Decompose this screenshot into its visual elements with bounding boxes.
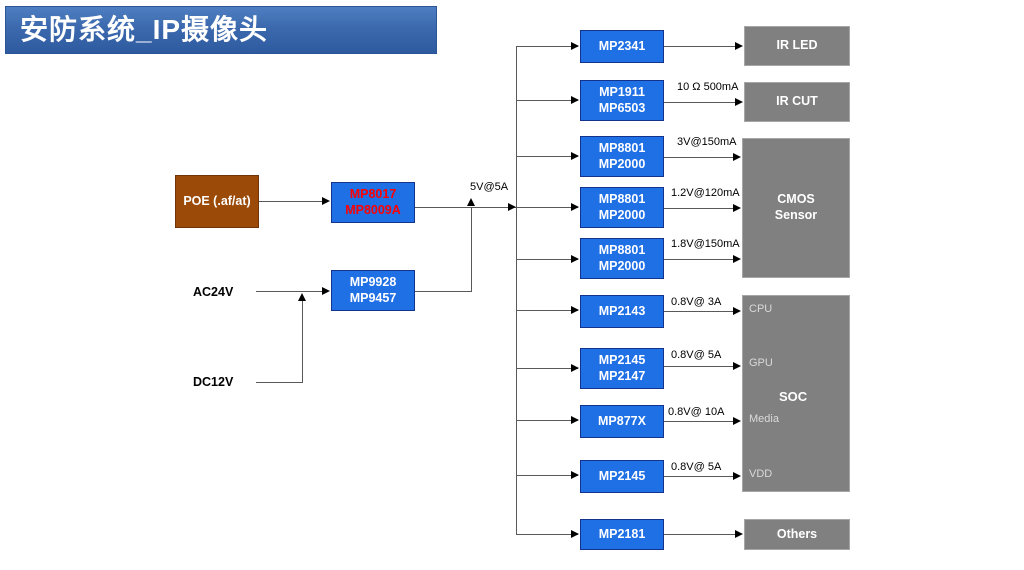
regulator-cmos-1v2-part1: MP8801 bbox=[599, 192, 646, 208]
arrow-bus-to-ir-cut-reg bbox=[571, 96, 579, 104]
page-title: 安防系统_IP摄像头 bbox=[6, 16, 268, 44]
wire-cmos-1v8-reg-to-load bbox=[664, 259, 736, 260]
arrow-soc-media-reg-to-load bbox=[733, 417, 741, 425]
wire-poe-to-converter bbox=[259, 201, 323, 202]
regulator-ir-led-part: MP2341 bbox=[599, 39, 646, 55]
arrow-bus-to-others-reg bbox=[571, 530, 579, 538]
wire-bus-to-cmos-1v8-reg bbox=[516, 259, 578, 260]
arrow-bus-to-soc-gpu-reg bbox=[571, 364, 579, 372]
regulator-ac-dc-converter-line1: MP9928 bbox=[350, 275, 397, 291]
load-ir-cut[interactable]: IR CUT bbox=[744, 82, 850, 122]
rail-label-soc-media: 0.8V@ 10A bbox=[668, 406, 724, 418]
soc-pin-cpu: CPU bbox=[749, 303, 772, 315]
arrow-bus-to-soc-vdd-reg bbox=[571, 471, 579, 479]
arrow-ac24v-to-converter bbox=[322, 287, 330, 295]
wire-bus-to-cmos-1v2-reg bbox=[516, 207, 578, 208]
load-cmos-sensor[interactable]: CMOS Sensor bbox=[742, 138, 850, 278]
regulator-poe-converter[interactable]: MP8017 MP8009A bbox=[331, 182, 415, 223]
arrow-soc-cpu-reg-to-load bbox=[733, 307, 741, 315]
wire-soc-vdd-reg-to-load bbox=[664, 476, 736, 477]
wire-bus-to-others-reg bbox=[516, 534, 578, 535]
wire-bus-to-soc-vdd-reg bbox=[516, 475, 578, 476]
wire-cmos-3v-reg-to-load bbox=[664, 157, 736, 158]
regulator-ir-cut-part2: MP6503 bbox=[599, 101, 646, 117]
bus-voltage-label: 5V@5A bbox=[470, 181, 508, 193]
regulator-soc-vdd[interactable]: MP2145 bbox=[580, 460, 664, 493]
regulator-ir-cut-part1: MP1911 bbox=[599, 85, 645, 101]
wire-acdc-out-vertical bbox=[471, 208, 472, 291]
arrow-bus-to-ir-led-reg bbox=[571, 42, 579, 50]
load-ir-led-label: IR LED bbox=[777, 38, 818, 54]
rail-label-cmos-1v8: 1.8V@150mA bbox=[671, 238, 740, 250]
regulator-poe-converter-line1: MP8017 bbox=[350, 187, 397, 203]
regulator-others[interactable]: MP2181 bbox=[580, 519, 664, 550]
rail-label-cmos-1v2: 1.2V@120mA bbox=[671, 187, 740, 199]
rail-label-cmos-3v: 3V@150mA bbox=[677, 136, 736, 148]
regulator-ac-dc-converter[interactable]: MP9928 MP9457 bbox=[331, 270, 415, 311]
regulator-ir-led[interactable]: MP2341 bbox=[580, 30, 664, 63]
regulator-cmos-3v[interactable]: MP8801 MP2000 bbox=[580, 136, 664, 177]
arrow-bus-to-soc-cpu-reg bbox=[571, 306, 579, 314]
regulator-soc-media-part: MP877X bbox=[598, 414, 646, 430]
wire-bus-to-soc-gpu-reg bbox=[516, 368, 578, 369]
regulator-soc-cpu-part: MP2143 bbox=[599, 304, 646, 320]
wire-soc-cpu-reg-to-load bbox=[664, 311, 736, 312]
load-soc-title: SOC bbox=[779, 389, 807, 404]
wire-soc-gpu-reg-to-load bbox=[664, 366, 736, 367]
regulator-cmos-1v8-part2: MP2000 bbox=[599, 259, 646, 275]
rail-label-ir-cut: 10 Ω 500mA bbox=[677, 81, 738, 93]
regulator-soc-vdd-part: MP2145 bbox=[599, 469, 646, 485]
wire-bus-to-soc-media-reg bbox=[516, 420, 578, 421]
regulator-cmos-1v8[interactable]: MP8801 MP2000 bbox=[580, 238, 664, 279]
wire-bus-to-cmos-3v-reg bbox=[516, 156, 578, 157]
wire-acdc-out-horizontal bbox=[415, 291, 472, 292]
load-ir-led[interactable]: IR LED bbox=[744, 26, 850, 66]
arrow-5v-into-bus bbox=[508, 203, 516, 211]
rail-label-soc-vdd: 0.8V@ 5A bbox=[671, 461, 721, 473]
arrow-cmos-1v2-reg-to-load bbox=[733, 204, 741, 212]
wire-ac24v-to-converter bbox=[256, 291, 323, 292]
regulator-soc-cpu[interactable]: MP2143 bbox=[580, 295, 664, 328]
regulator-cmos-3v-part2: MP2000 bbox=[599, 157, 646, 173]
wire-bus-to-ir-led-reg bbox=[516, 46, 578, 47]
arrow-cmos-1v8-reg-to-load bbox=[733, 255, 741, 263]
load-others[interactable]: Others bbox=[744, 519, 850, 550]
wire-cmos-1v2-reg-to-load bbox=[664, 208, 736, 209]
wire-ir-led-reg-to-load bbox=[664, 46, 738, 47]
regulator-cmos-1v2[interactable]: MP8801 MP2000 bbox=[580, 187, 664, 228]
regulator-soc-gpu[interactable]: MP2145 MP2147 bbox=[580, 348, 664, 389]
regulator-others-part: MP2181 bbox=[599, 527, 646, 543]
wire-dc12v-horizontal bbox=[256, 382, 303, 383]
source-poe-block[interactable]: POE (.af/at) bbox=[175, 175, 259, 228]
wire-others-reg-to-load bbox=[664, 534, 738, 535]
arrow-bus-to-cmos-1v2-reg bbox=[571, 203, 579, 211]
arrow-dc12v-join bbox=[298, 293, 306, 301]
regulator-poe-converter-line2: MP8009A bbox=[345, 203, 401, 219]
soc-pin-vdd: VDD bbox=[749, 468, 772, 480]
soc-pin-gpu: GPU bbox=[749, 357, 773, 369]
arrow-bus-to-cmos-1v8-reg bbox=[571, 255, 579, 263]
wire-bus-to-soc-cpu-reg bbox=[516, 310, 578, 311]
arrow-acdc-join-bus bbox=[467, 198, 475, 206]
source-dc12v-label: DC12V bbox=[193, 375, 233, 389]
load-cmos-sensor-line1: CMOS bbox=[777, 192, 815, 208]
soc-pin-media: Media bbox=[749, 413, 779, 425]
arrow-ir-cut-reg-to-load bbox=[735, 98, 743, 106]
wire-dc12v-vertical bbox=[302, 300, 303, 382]
distribution-bus bbox=[516, 46, 517, 535]
regulator-soc-gpu-part1: MP2145 bbox=[599, 353, 646, 369]
source-poe-label: POE (.af/at) bbox=[183, 194, 250, 210]
diagram-canvas: 安防系统_IP摄像头 POE (.af/at) AC24V DC12V MP80… bbox=[0, 0, 1024, 570]
load-cmos-sensor-line2: Sensor bbox=[775, 208, 817, 224]
regulator-cmos-3v-part1: MP8801 bbox=[599, 141, 646, 157]
wire-ir-cut-reg-to-load bbox=[664, 102, 738, 103]
wire-bus-to-ir-cut-reg bbox=[516, 100, 578, 101]
arrow-soc-gpu-reg-to-load bbox=[733, 362, 741, 370]
rail-label-soc-cpu: 0.8V@ 3A bbox=[671, 296, 721, 308]
wire-soc-media-reg-to-load bbox=[664, 421, 736, 422]
arrow-bus-to-soc-media-reg bbox=[571, 416, 579, 424]
regulator-soc-gpu-part2: MP2147 bbox=[599, 369, 646, 385]
arrow-cmos-3v-reg-to-load bbox=[733, 153, 741, 161]
wire-5v-main-bus bbox=[415, 207, 516, 208]
regulator-cmos-1v8-part1: MP8801 bbox=[599, 243, 646, 259]
regulator-cmos-1v2-part2: MP2000 bbox=[599, 208, 646, 224]
source-ac24v-label: AC24V bbox=[193, 285, 233, 299]
page-title-banner: 安防系统_IP摄像头 bbox=[5, 6, 437, 54]
arrow-soc-vdd-reg-to-load bbox=[733, 472, 741, 480]
rail-label-soc-gpu: 0.8V@ 5A bbox=[671, 349, 721, 361]
load-ir-cut-label: IR CUT bbox=[776, 94, 818, 110]
regulator-soc-media[interactable]: MP877X bbox=[580, 405, 664, 438]
arrow-poe-to-converter bbox=[322, 197, 330, 205]
load-others-label: Others bbox=[777, 527, 817, 543]
arrow-others-reg-to-load bbox=[735, 530, 743, 538]
arrow-ir-led-reg-to-load bbox=[735, 42, 743, 50]
arrow-bus-to-cmos-3v-reg bbox=[571, 152, 579, 160]
regulator-ir-cut[interactable]: MP1911 MP6503 bbox=[580, 80, 664, 121]
regulator-ac-dc-converter-line2: MP9457 bbox=[350, 291, 397, 307]
